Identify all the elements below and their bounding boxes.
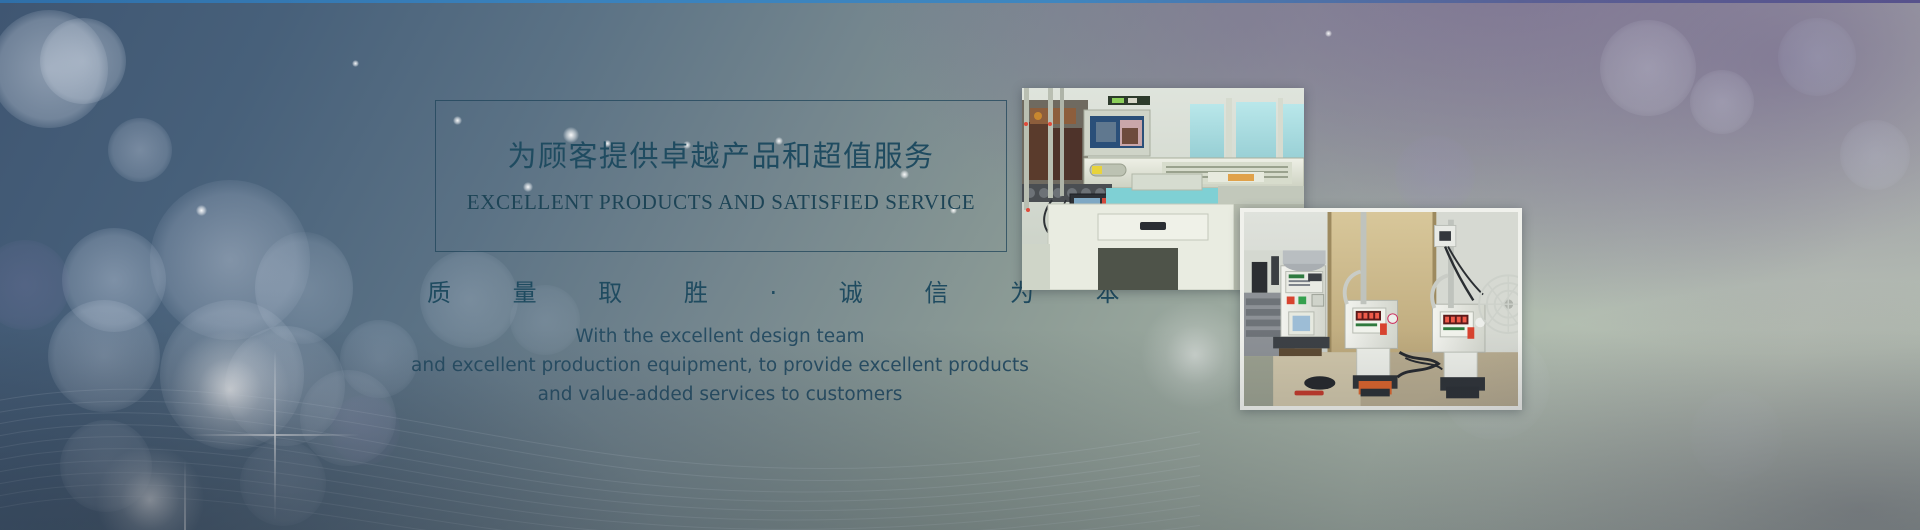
description-line-2: and excellent production equipment, to p… <box>340 351 1100 380</box>
page-subtitle: EXCELLENT PRODUCTS AND SATISFIED SERVICE <box>435 190 1007 215</box>
top-accent-rule <box>0 0 1920 3</box>
promo-banner: 为顾客提供卓越产品和超值服务 EXCELLENT PRODUCTS AND SA… <box>0 0 1920 530</box>
violet-tint-overlay <box>0 0 1920 530</box>
description-paragraph: With the excellent design team and excel… <box>340 322 1100 409</box>
headline-frame <box>435 100 1007 252</box>
description-line-1: With the excellent design team <box>340 322 1100 351</box>
page-title: 为顾客提供卓越产品和超值服务 <box>435 133 1007 175</box>
photo-press-artwork <box>1244 212 1518 406</box>
edge-shading-overlay <box>0 0 1920 530</box>
description-line-3: and value-added services to customers <box>340 380 1100 409</box>
photo-pneumatic-press-machines[interactable] <box>1240 208 1522 410</box>
slogan-text: 质 量 取 胜 · 诚 信 为 本 <box>400 273 1040 308</box>
